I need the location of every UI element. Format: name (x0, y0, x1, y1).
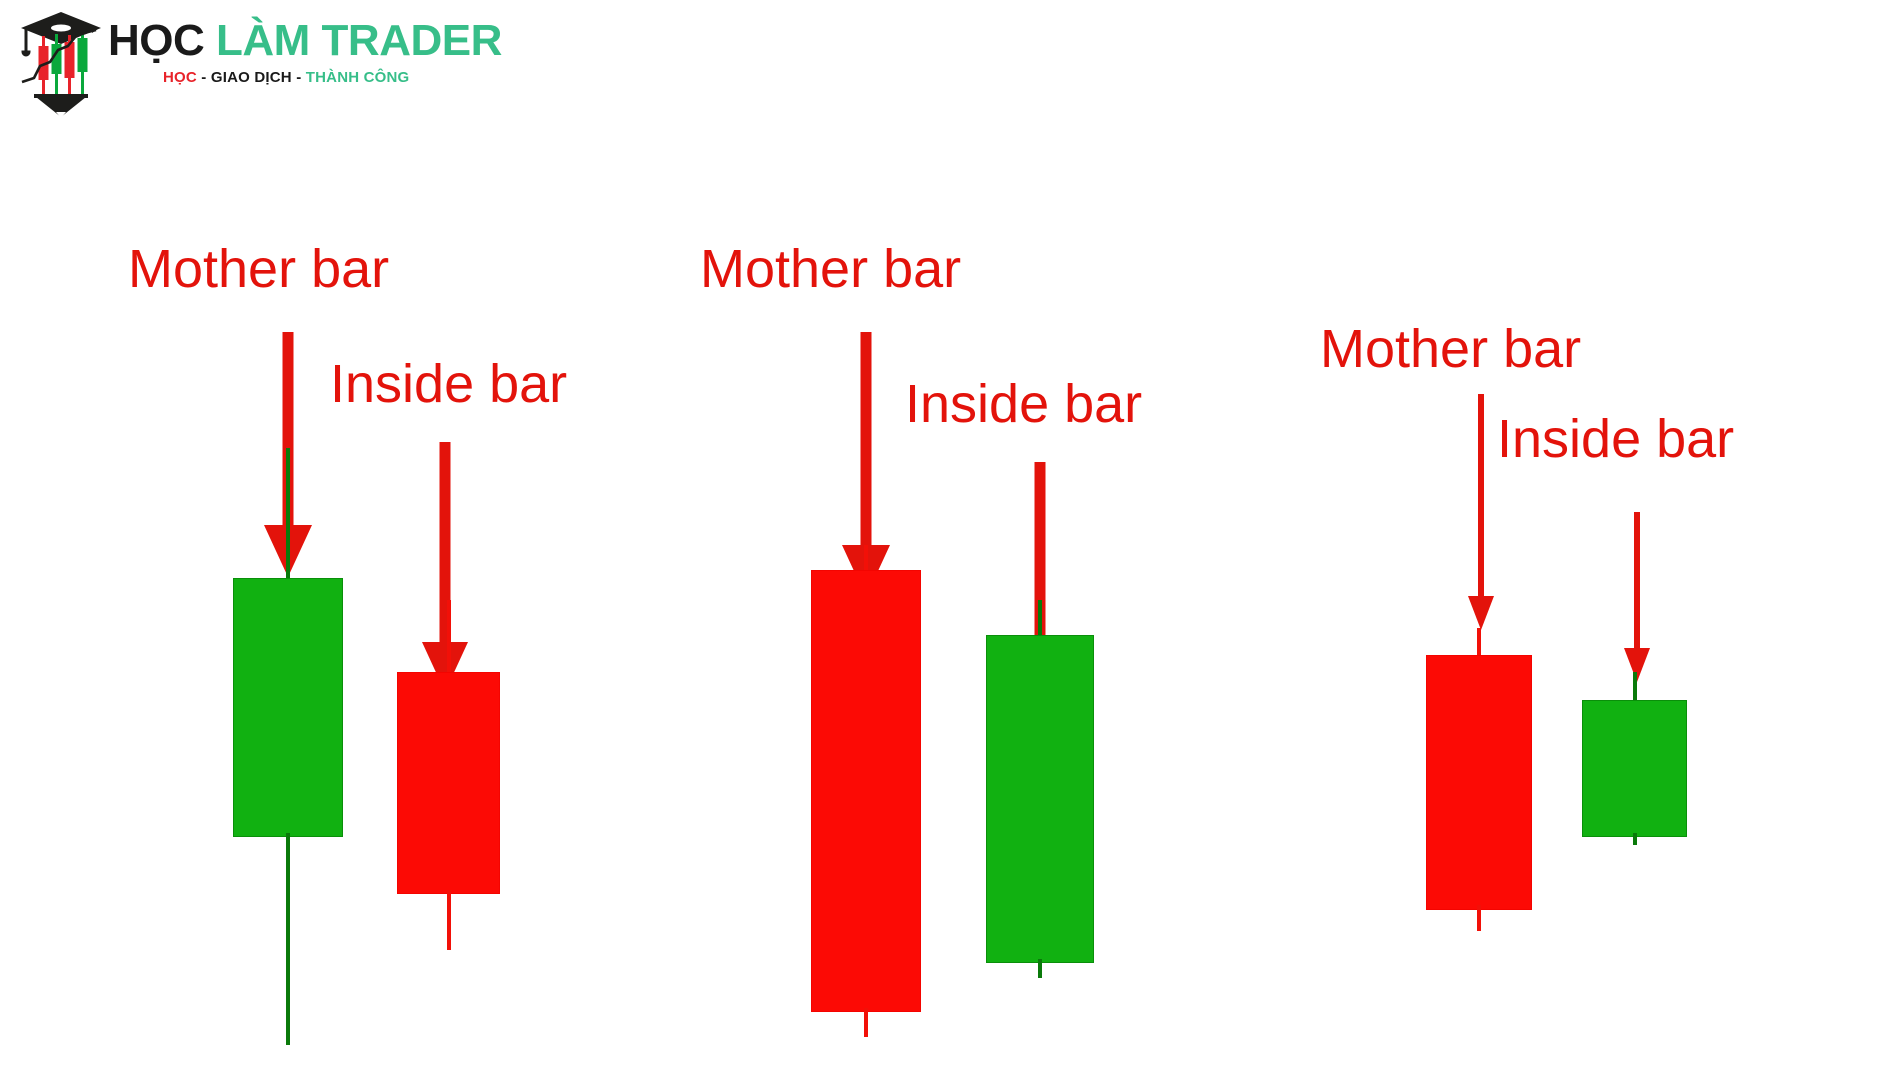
logo-title: HỌC LÀM TRADER (108, 18, 502, 64)
site-logo-header: HỌC LÀM TRADER HỌC - GIAO DỊCH - THÀNH C… (0, 0, 1898, 122)
group-1-mother-bar-label: Mother bar (128, 242, 389, 296)
logo-wordmark: HỌC LÀM TRADER HỌC - GIAO DỊCH - THÀNH C… (108, 18, 502, 88)
logo-title-lam-trader: LÀM TRADER (216, 16, 502, 65)
group-1-inside-bar-label: Inside bar (330, 357, 567, 411)
group-3-mother-lower-wick (1477, 905, 1481, 931)
group-2-mother-upper-wick (864, 545, 868, 573)
group-3-mother-upper-wick (1477, 628, 1481, 658)
group-3-inside-body (1582, 700, 1687, 837)
logo-title-hoc: HỌC (108, 16, 204, 65)
logo-tagline: HỌC - GIAO DỊCH - THÀNH CÔNG (163, 70, 502, 86)
group-3-inside-bar-arrow-icon (1624, 512, 1650, 682)
group-3-inside-lower-wick (1633, 833, 1637, 845)
group-2-mother-bar-label: Mother bar (700, 242, 961, 296)
group-3-mother-candle (1426, 628, 1532, 931)
group-1-mother-body (233, 578, 343, 837)
inside-bar-diagram: Mother bar Inside bar (0, 122, 1898, 1067)
group-1-mother-lower-wick (286, 833, 290, 1045)
tagline-giao-dich: - GIAO DỊCH - (197, 69, 306, 86)
group-3-mother-bar-arrow-icon (1468, 394, 1494, 630)
group-2-inside-bar-label: Inside bar (905, 377, 1142, 431)
group-2-mother-candle (811, 545, 921, 1037)
group-2-mother-lower-wick (864, 1008, 868, 1037)
group-3-mother-body (1426, 655, 1532, 910)
group-3-mother-bar-label: Mother bar (1320, 322, 1581, 376)
group-2-mother-body (811, 570, 921, 1012)
group-1-inside-upper-wick (447, 600, 451, 674)
group-1-inside-candle (397, 600, 500, 950)
group-3-inside-bar-label: Inside bar (1497, 412, 1734, 466)
group-2-inside-lower-wick (1038, 959, 1042, 978)
group-1-inside-lower-wick (447, 890, 451, 950)
tagline-hoc: HỌC (163, 69, 197, 86)
group-2-inside-upper-wick (1038, 600, 1042, 638)
graduation-cap-candlestick-logo-icon (18, 8, 104, 120)
group-1-mother-candle (233, 448, 343, 1045)
group-3-inside-candle (1582, 672, 1687, 845)
diagram-canvas: HỌC LÀM TRADER HỌC - GIAO DỊCH - THÀNH C… (0, 0, 1898, 1067)
tagline-thanh-cong: THÀNH CÔNG (306, 69, 410, 86)
group-2-inside-candle (986, 600, 1094, 978)
group-1-mother-upper-wick (286, 448, 290, 580)
group-1-inside-body (397, 672, 500, 894)
group-2-inside-body (986, 635, 1094, 963)
